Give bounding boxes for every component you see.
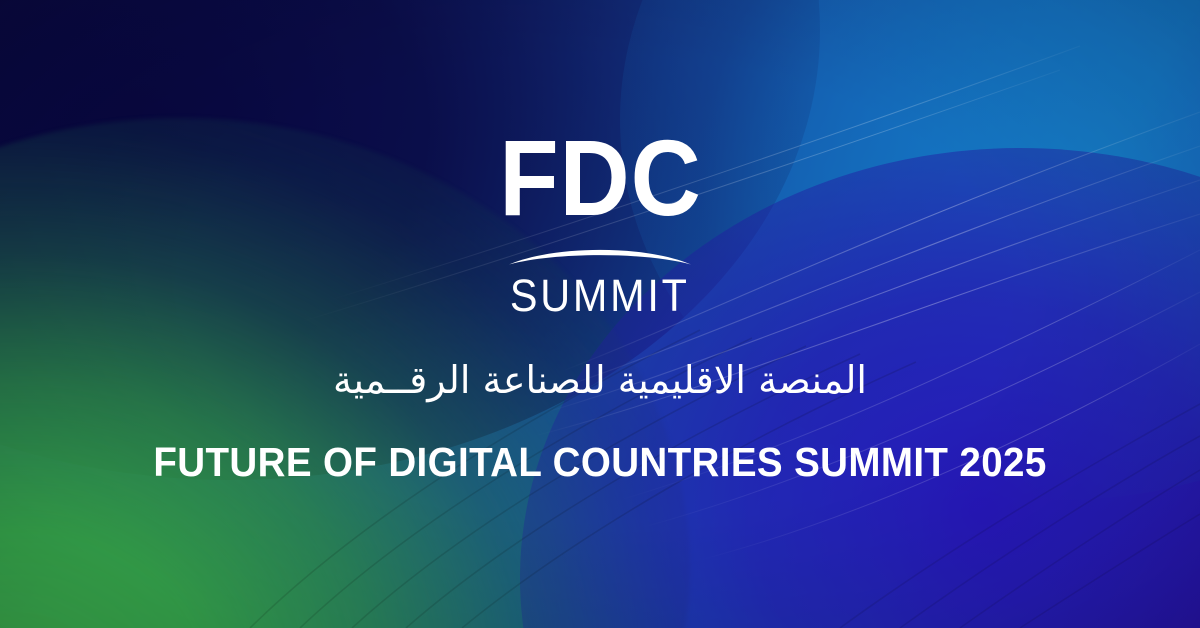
tagline-arabic: المنصة الاقليمية للصناعة الرقــمية	[0, 356, 1200, 405]
event-title-english: FUTURE OF DIGITAL COUNTRIES SUMMIT 2025	[36, 442, 1164, 483]
banner-content: FDC SUMMIT المنصة الاقليمية للصناعة الرق…	[0, 0, 1200, 628]
logo-acronym: FDC	[499, 128, 701, 227]
event-banner: FDC SUMMIT المنصة الاقليمية للصناعة الرق…	[0, 0, 1200, 628]
swoosh-arc-icon	[509, 243, 691, 267]
fdc-summit-logo: FDC SUMMIT	[0, 128, 1200, 318]
logo-wordmark: SUMMIT	[510, 273, 690, 318]
